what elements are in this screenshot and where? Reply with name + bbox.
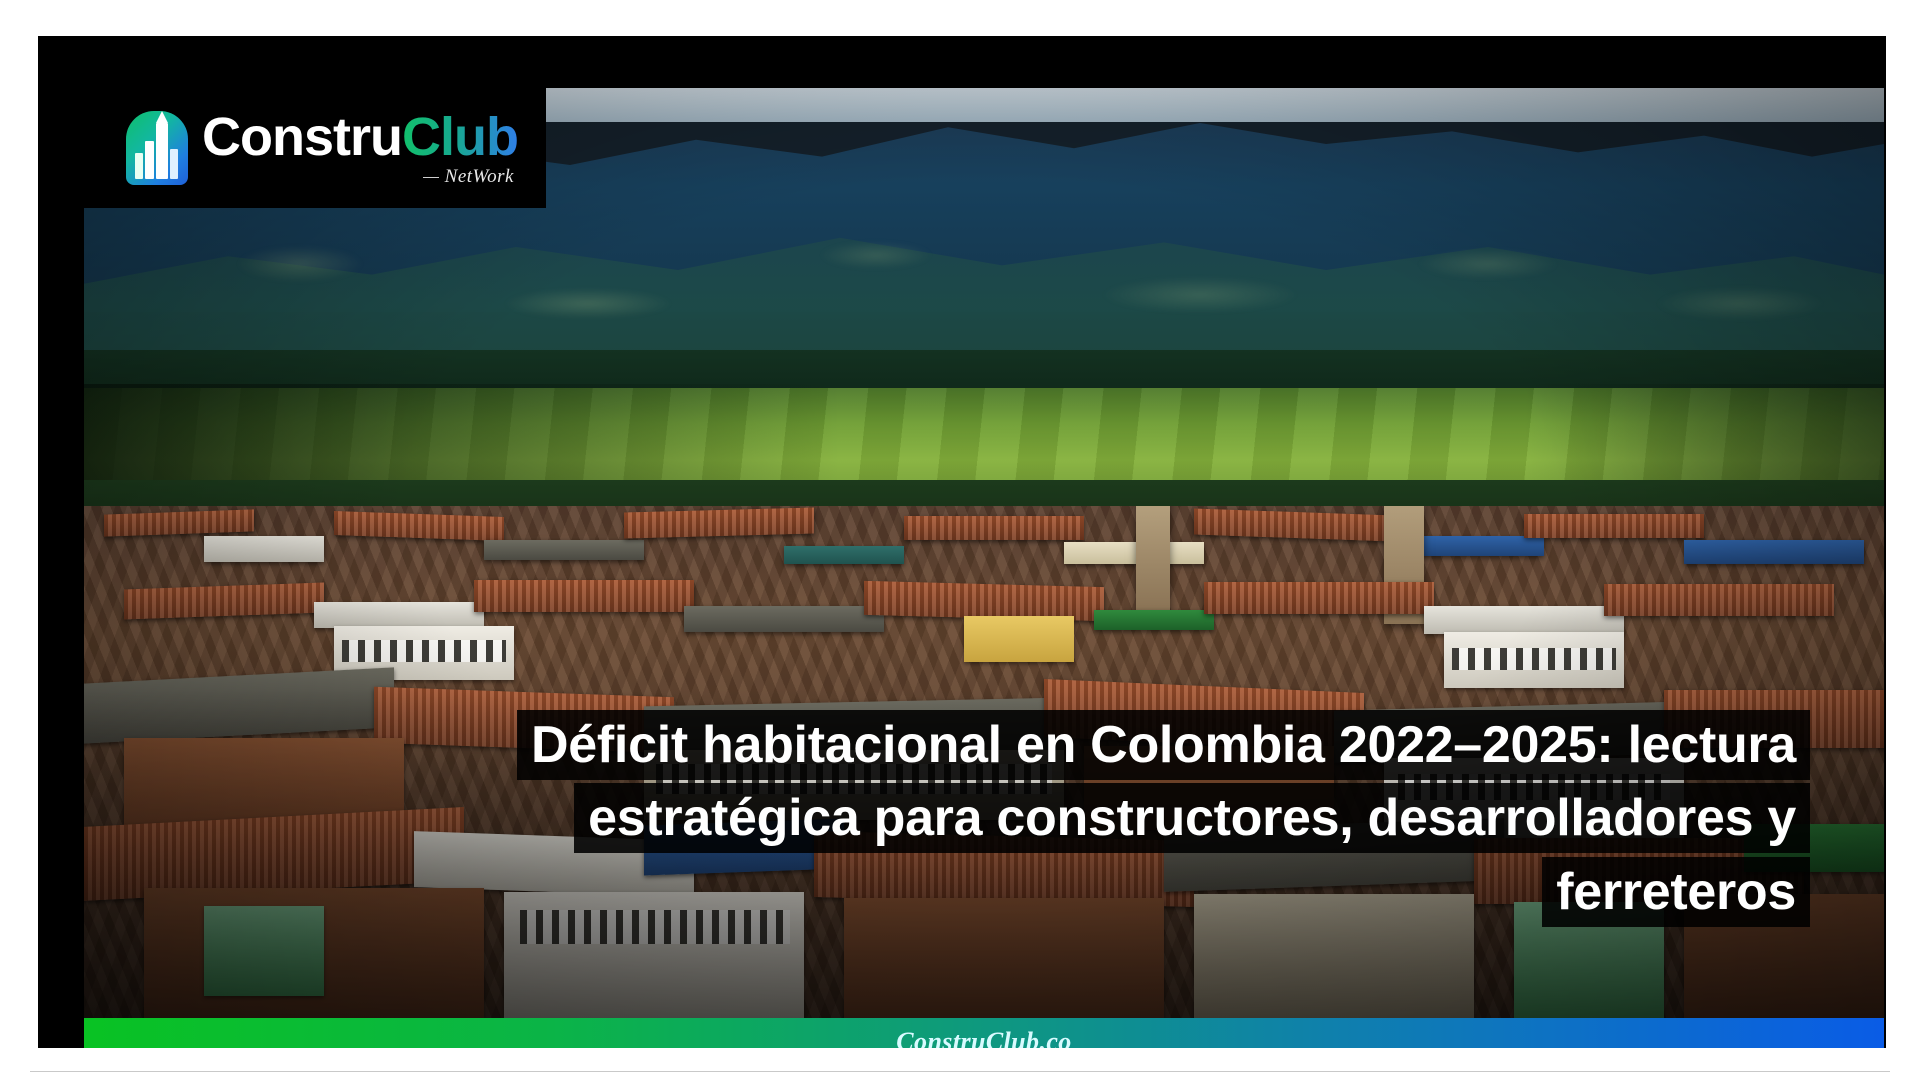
hero-title-line-3: ferreteros <box>1542 857 1810 927</box>
brand-wordmark-part2: Club <box>402 107 518 167</box>
brand-wordmark-part1: Constru <box>202 107 402 167</box>
building-skyline-icon <box>126 111 188 185</box>
site-footer-bar: ConstruClub.co <box>84 1018 1884 1048</box>
site-url-label[interactable]: ConstruClub.co <box>896 1027 1071 1048</box>
page-bottom-divider <box>30 1071 1890 1072</box>
brand-tagline: NetWork <box>423 167 514 186</box>
brand-wordmark: ConstruClub <box>202 110 518 164</box>
page-root: ConstruClub NetWork Déficit habitacional… <box>0 0 1920 1080</box>
hero-title-line-2: estratégica para constructores, desarrol… <box>574 783 1810 853</box>
hero-title: Déficit habitacional en Colombia 2022–20… <box>84 709 1840 930</box>
hero-banner: ConstruClub NetWork Déficit habitacional… <box>38 36 1886 1048</box>
brand-text: ConstruClub NetWork <box>202 110 518 186</box>
hero-title-line-1: Déficit habitacional en Colombia 2022–20… <box>517 710 1810 780</box>
brand-logo[interactable]: ConstruClub NetWork <box>84 88 546 208</box>
